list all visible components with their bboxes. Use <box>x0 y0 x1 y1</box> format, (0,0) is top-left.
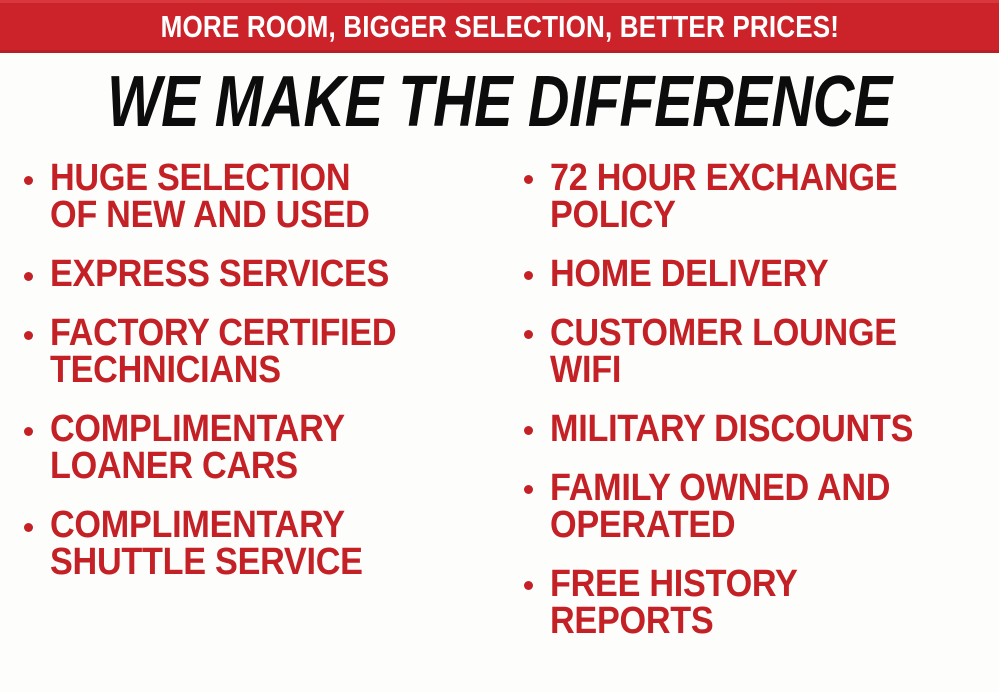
feature-item: HUGE SELECTION OF NEW AND USED <box>18 160 498 234</box>
bullet-dot-icon <box>524 330 533 339</box>
bullet-dot-icon <box>24 272 33 281</box>
features-columns: HUGE SELECTION OF NEW AND USEDEXPRESS SE… <box>0 160 999 692</box>
feature-item: FREE HISTORY REPORTS <box>518 566 999 640</box>
feature-item-label: MILITARY DISCOUNTS <box>550 411 954 448</box>
bullet-dot-icon <box>24 523 33 532</box>
feature-item-label: HUGE SELECTION OF NEW AND USED <box>50 160 453 234</box>
feature-item: EXPRESS SERVICES <box>18 256 498 293</box>
bullet-dot-icon <box>24 427 33 436</box>
feature-item-label: FREE HISTORY REPORTS <box>550 566 954 640</box>
promo-banner-text: MORE ROOM, BIGGER SELECTION, BETTER PRIC… <box>160 11 839 42</box>
feature-item: COMPLIMENTARY SHUTTLE SERVICE <box>18 507 498 581</box>
feature-item: FACTORY CERTIFIED TECHNICIANS <box>18 315 498 389</box>
feature-item-label: CUSTOMER LOUNGE WIFI <box>550 315 954 389</box>
bullet-dot-icon <box>524 485 533 494</box>
bullet-dot-icon <box>524 581 533 590</box>
feature-item: 72 HOUR EXCHANGE POLICY <box>518 160 999 234</box>
feature-item-label: HOME DELIVERY <box>550 256 954 293</box>
feature-item-label: COMPLIMENTARY LOANER CARS <box>50 411 453 485</box>
feature-item-label: COMPLIMENTARY SHUTTLE SERVICE <box>50 507 453 581</box>
promo-banner: MORE ROOM, BIGGER SELECTION, BETTER PRIC… <box>0 0 999 53</box>
feature-item: COMPLIMENTARY LOANER CARS <box>18 411 498 485</box>
feature-item: MILITARY DISCOUNTS <box>518 411 999 448</box>
headline-container: WE MAKE THE DIFFERENCE <box>0 66 999 138</box>
bullet-dot-icon <box>524 175 533 184</box>
bullet-dot-icon <box>24 331 33 340</box>
features-column-left: HUGE SELECTION OF NEW AND USEDEXPRESS SE… <box>18 160 498 603</box>
page-title: WE MAKE THE DIFFERENCE <box>107 66 892 138</box>
features-column-right: 72 HOUR EXCHANGE POLICYHOME DELIVERYCUST… <box>518 160 999 662</box>
feature-item-label: FACTORY CERTIFIED TECHNICIANS <box>50 315 453 389</box>
feature-item: FAMILY OWNED AND OPERATED <box>518 470 999 544</box>
bullet-dot-icon <box>524 271 533 280</box>
feature-item: HOME DELIVERY <box>518 256 999 293</box>
feature-item-label: EXPRESS SERVICES <box>50 256 453 293</box>
feature-item: CUSTOMER LOUNGE WIFI <box>518 315 999 389</box>
bullet-dot-icon <box>24 176 33 185</box>
feature-item-label: FAMILY OWNED AND OPERATED <box>550 470 954 544</box>
bullet-dot-icon <box>524 426 533 435</box>
feature-item-label: 72 HOUR EXCHANGE POLICY <box>550 160 954 234</box>
